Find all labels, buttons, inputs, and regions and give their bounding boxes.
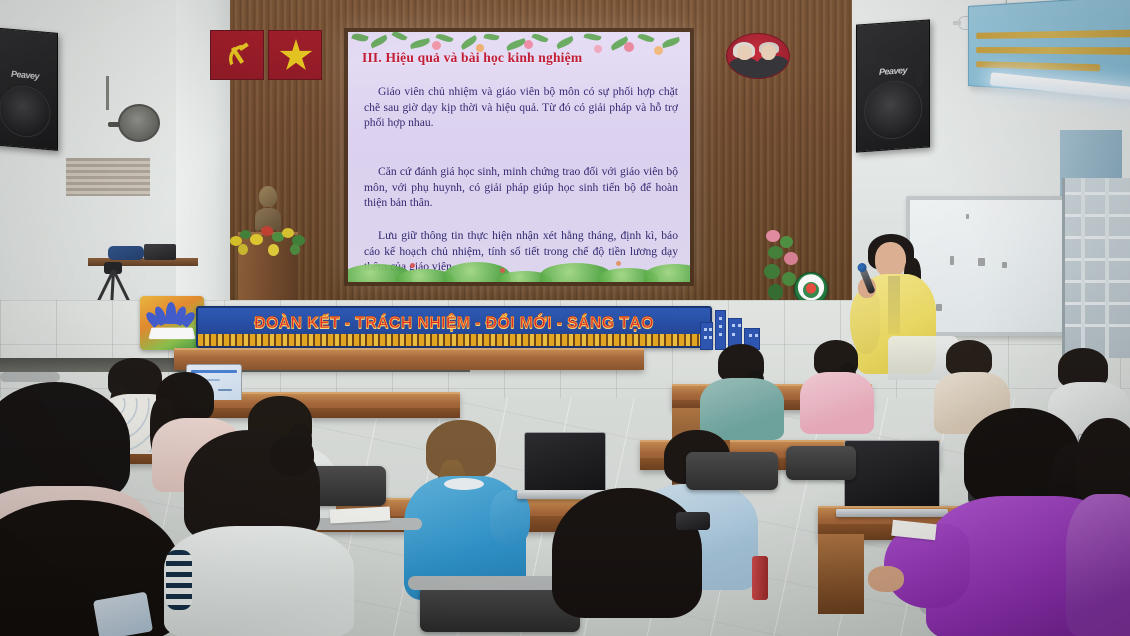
desk-pedestal — [818, 534, 864, 614]
slogan-banner: ĐOÀN KẾT - TRÁCH NHIỆM - ĐỔI MỚI - SÁNG … — [196, 306, 712, 348]
attendee-collar — [444, 478, 484, 490]
chair — [686, 452, 778, 490]
portrait-body-left — [729, 58, 759, 78]
presenter-shirt-placket — [888, 276, 900, 334]
slide-paragraph-2: Căn cứ đánh giá học sinh, minh chứng tra… — [364, 164, 678, 211]
attendee-torso — [1066, 494, 1130, 636]
sign-text-line-3 — [976, 61, 1100, 71]
attendee-back-head-center — [552, 488, 702, 636]
speaker-left: Peavey — [0, 27, 58, 151]
banner-sunflower-border — [198, 334, 710, 346]
sign-text-line-2 — [976, 47, 1130, 55]
floor-bottle — [752, 556, 768, 600]
attendee-hair — [0, 382, 130, 502]
slide-content: III. Hiệu quả và bài học kinh nghiệm Giá… — [348, 32, 690, 282]
attendee-torso — [800, 372, 874, 434]
party-flag-emblem — [210, 30, 264, 80]
phone-screen — [93, 592, 153, 636]
speaker-port — [916, 64, 923, 86]
attendee-sleeve-stripe — [166, 550, 192, 610]
microphone-head — [856, 262, 868, 274]
laptop-screen — [524, 432, 606, 490]
portrait-body-right — [757, 56, 789, 78]
equipment-bag — [108, 246, 144, 260]
crest-inner-icon — [803, 282, 819, 298]
speaker-woofer-right — [864, 79, 922, 141]
speaker-brand-right: Peavey — [879, 65, 907, 77]
yellow-star-icon — [279, 39, 313, 73]
window-grille — [1062, 178, 1130, 358]
open-book-icon — [148, 328, 195, 340]
fan-cage — [118, 104, 160, 142]
marx-head — [737, 45, 752, 60]
presenter-head — [875, 242, 906, 277]
banner-text: ĐOÀN KẾT - TRÁCH NHIỆM - ĐỔI MỚI - SÁNG … — [198, 315, 710, 333]
chair — [786, 446, 856, 480]
podium-flower-arrangement — [228, 222, 312, 256]
attendee-far-right-foreground — [1076, 418, 1130, 636]
slide-title: III. Hiệu quả và bài học kinh nghiệm — [362, 50, 680, 66]
speaker-right: Peavey — [856, 19, 930, 152]
slide-bottom-decoration — [348, 248, 690, 282]
sign-text-line-1 — [976, 29, 1130, 39]
laptop-center — [524, 432, 606, 492]
control-laptop-area — [108, 244, 180, 262]
marx-lenin-portrait — [726, 33, 790, 79]
desk-front-row — [174, 348, 644, 370]
wall-vent — [66, 158, 150, 196]
attendee-torso — [164, 526, 354, 636]
control-laptop — [144, 244, 176, 260]
attendee-hand — [868, 566, 904, 592]
chair-frame — [0, 372, 60, 382]
attendee-hair — [946, 340, 992, 376]
attendee-teal-shirt — [700, 344, 784, 436]
bag-on-floor — [676, 512, 710, 530]
fan-stem — [106, 76, 109, 110]
classroom-photo: Peavey Peavey — [0, 0, 1130, 636]
attendee-hair — [0, 500, 180, 636]
national-flag-emblem — [268, 30, 322, 80]
slide-paragraph-1: Giáo viên chủ nhiệm và giáo viên bộ môn … — [364, 84, 678, 131]
school-lotus-logo — [140, 296, 204, 350]
attendee-bun — [270, 436, 314, 476]
attendee-pink-top — [800, 340, 874, 432]
speaker-brand-left: Peavey — [11, 69, 39, 81]
attendee-blue-dress — [404, 420, 526, 600]
bust-head — [259, 186, 277, 207]
lenin-head — [761, 44, 776, 60]
attendee-hair — [1076, 418, 1130, 502]
wall-fan — [118, 104, 164, 144]
projection-screen: III. Hiệu quả và bài học kinh nghiệm Giá… — [344, 28, 694, 286]
hammer-sickle-icon — [223, 40, 253, 70]
city-skyline-logo — [700, 300, 762, 350]
cctv-arm — [953, 21, 961, 25]
attendee-hair — [552, 488, 702, 618]
attendee-white-tshirt — [164, 430, 354, 636]
speaker-woofer-left — [0, 84, 51, 140]
